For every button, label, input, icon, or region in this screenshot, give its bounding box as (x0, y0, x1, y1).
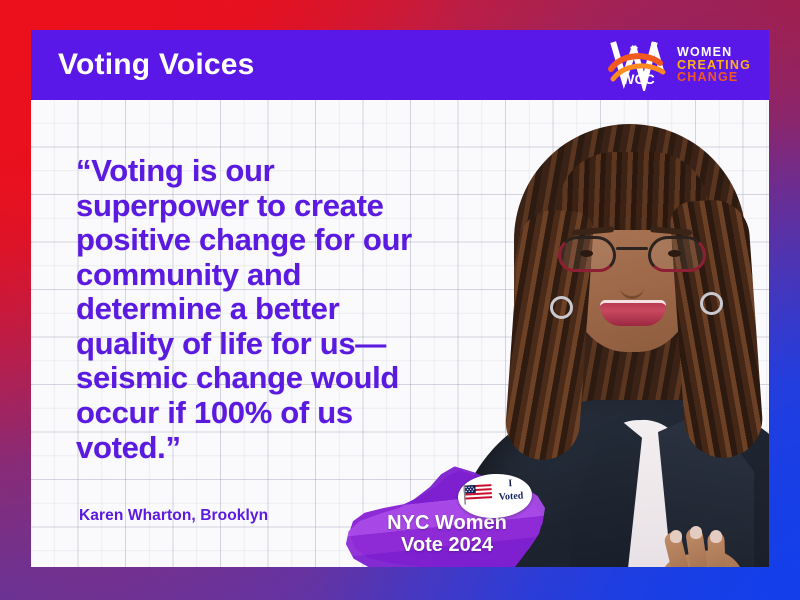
fingernail-1 (670, 530, 682, 543)
nyc-women-vote-badge: NYC Women Vote 2024 (349, 470, 545, 567)
earring-right (700, 292, 723, 315)
smile (600, 300, 666, 326)
badge-label: NYC Women Vote 2024 (349, 512, 545, 557)
header-bar: Voting Voices WCC (31, 30, 769, 100)
fingernail-2 (690, 526, 702, 539)
glasses-bridge (616, 247, 648, 250)
svg-text:WCC: WCC (621, 71, 654, 87)
wcc-logo[interactable]: WCC WOMEN CREATING CHANGE (608, 39, 751, 91)
poster-canvas: Voting Voices WCC (0, 0, 800, 600)
quote-attribution: Karen Wharton, Brooklyn (79, 507, 268, 525)
page-title: Voting Voices (58, 48, 255, 82)
eye-right (668, 250, 681, 257)
logo-line-women: WOMEN (677, 46, 751, 59)
i-voted-label: I Voted (493, 477, 528, 504)
us-flag-icon (463, 482, 494, 506)
content-card: Voting Voices WCC (31, 30, 769, 567)
fingernail-3 (710, 530, 722, 543)
wcc-wordmark: WOMEN CREATING CHANGE (677, 46, 751, 84)
wcc-monogram-icon: WCC (608, 39, 668, 91)
quote-text: “Voting is our superpower to create posi… (76, 154, 506, 465)
eye-left (580, 250, 593, 257)
logo-line-change: CHANGE (677, 71, 751, 84)
earring-left (550, 296, 573, 319)
nose (620, 276, 644, 299)
